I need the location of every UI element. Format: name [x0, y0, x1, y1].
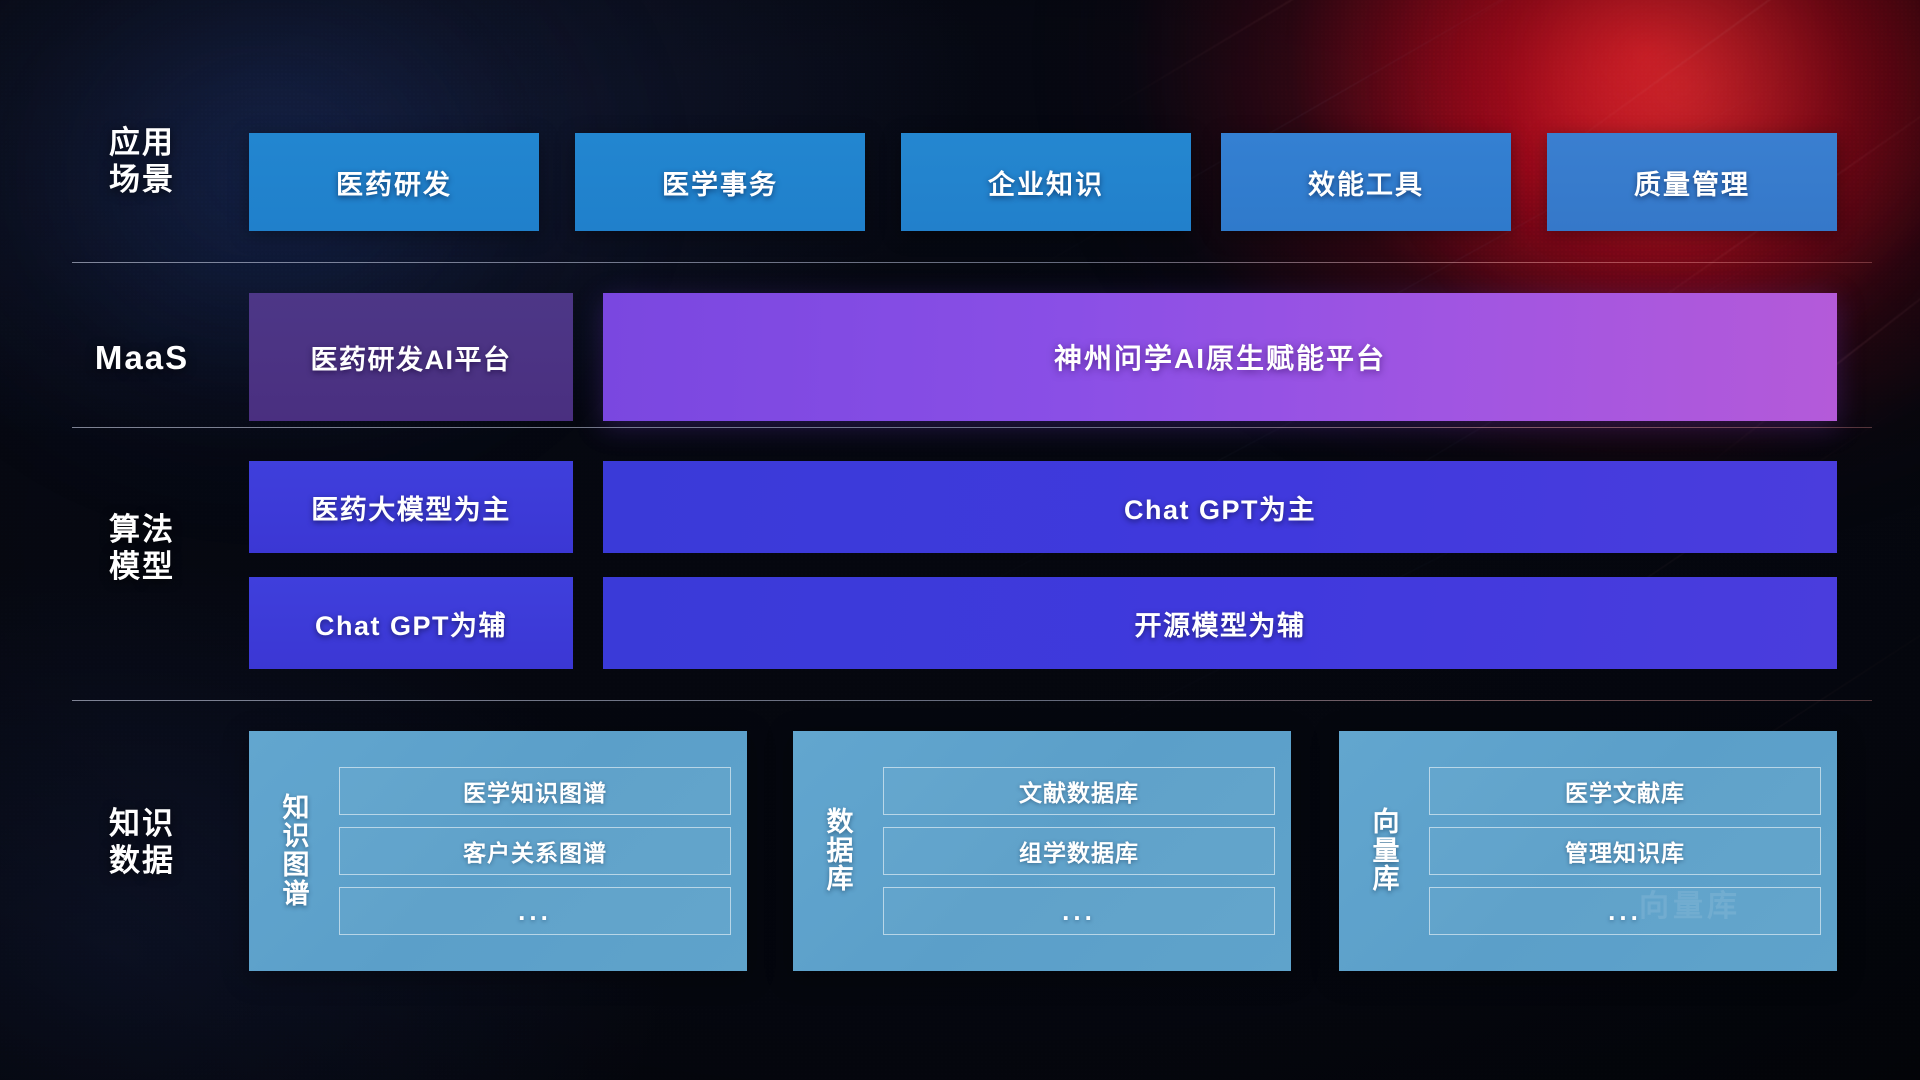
knowledge-item[interactable]: 组学数据库: [883, 827, 1275, 875]
knowledge-panel-item-list: 文献数据库 组学数据库 ...: [883, 767, 1275, 935]
algo-box-row2-left[interactable]: Chat GPT为辅: [249, 577, 573, 669]
algo-label: Chat GPT为主: [1124, 488, 1316, 527]
app-scenario-box-5[interactable]: 质量管理: [1547, 133, 1837, 231]
algo-box-row2-right[interactable]: 开源模型为辅: [603, 577, 1837, 669]
architecture-diagram: 应用 场景 医药研发 医学事务 企业知识 效能工具 质量管理 MaaS 医药研发…: [0, 0, 1920, 1080]
knowledge-panel-item-list: 医学文献库 管理知识库 ...: [1429, 767, 1821, 935]
knowledge-item-more[interactable]: ...: [1429, 887, 1821, 935]
app-scenario-label: 质量管理: [1634, 163, 1750, 202]
divider-1: [72, 262, 1872, 263]
app-scenario-box-4[interactable]: 效能工具: [1221, 133, 1511, 231]
app-scenario-box-1[interactable]: 医药研发: [249, 133, 539, 231]
app-scenario-box-3[interactable]: 企业知识: [901, 133, 1191, 231]
maas-platform-label: 医药研发AI平台: [311, 338, 512, 377]
maas-platform-box[interactable]: 医药研发AI平台: [249, 293, 573, 421]
knowledge-panel-database[interactable]: 数据库 文献数据库 组学数据库 ...: [793, 731, 1291, 971]
knowledge-item[interactable]: 医学知识图谱: [339, 767, 731, 815]
knowledge-item[interactable]: 文献数据库: [883, 767, 1275, 815]
knowledge-panel-knowledge-graph[interactable]: 知识图谱 医学知识图谱 客户关系图谱 ...: [249, 731, 747, 971]
tier-label-application-scenarios: 应用 场景: [72, 125, 212, 198]
algo-label: 医药大模型为主: [311, 488, 511, 527]
knowledge-panel-vertical-label: 知识图谱: [267, 794, 325, 908]
knowledge-panel-vertical-label: 数据库: [811, 808, 869, 894]
app-scenario-label: 医学事务: [662, 163, 778, 202]
tier-label-maas: MaaS: [72, 339, 212, 378]
knowledge-panel-vertical-label: 向量库: [1357, 808, 1415, 894]
algo-label: Chat GPT为辅: [315, 604, 507, 643]
maas-enablement-platform-label: 神州问学AI原生赋能平台: [1054, 337, 1386, 377]
tier-label-algorithm-models: 算法 模型: [72, 512, 212, 585]
knowledge-panel-item-list: 医学知识图谱 客户关系图谱 ...: [339, 767, 731, 935]
knowledge-panel-vector-store[interactable]: 向量库 医学文献库 管理知识库 ... 向量库: [1339, 731, 1837, 971]
knowledge-item[interactable]: 医学文献库: [1429, 767, 1821, 815]
algo-box-row1-right[interactable]: Chat GPT为主: [603, 461, 1837, 553]
tier-label-knowledge-data: 知识 数据: [72, 806, 212, 879]
knowledge-item-more[interactable]: ...: [883, 887, 1275, 935]
knowledge-item[interactable]: 管理知识库: [1429, 827, 1821, 875]
knowledge-item-more[interactable]: ...: [339, 887, 731, 935]
divider-2: [72, 427, 1872, 428]
knowledge-item[interactable]: 客户关系图谱: [339, 827, 731, 875]
app-scenario-label: 企业知识: [988, 163, 1104, 202]
divider-3: [72, 700, 1872, 701]
app-scenario-label: 医药研发: [336, 163, 452, 202]
algo-label: 开源模型为辅: [1135, 604, 1306, 643]
app-scenario-box-2[interactable]: 医学事务: [575, 133, 865, 231]
app-scenario-label: 效能工具: [1308, 163, 1424, 202]
maas-enablement-platform-box[interactable]: 神州问学AI原生赋能平台: [603, 293, 1837, 421]
algo-box-row1-left[interactable]: 医药大模型为主: [249, 461, 573, 553]
